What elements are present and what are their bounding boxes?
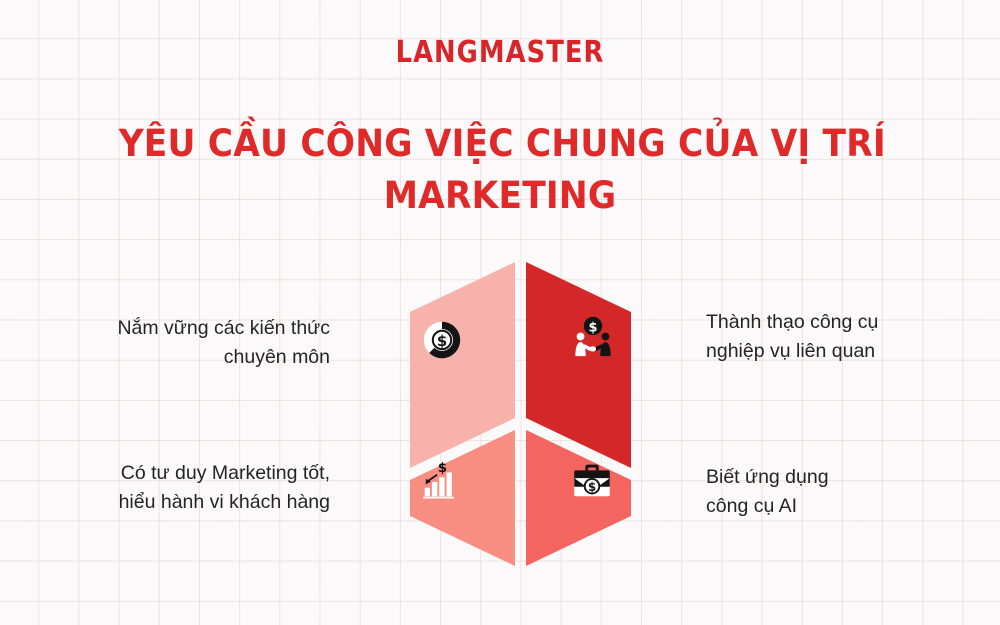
label-ai-line-2: công cụ AI (706, 492, 996, 521)
bar-chart-dollar-icon: $ (417, 458, 463, 504)
langmaster-logo: LANGMASTER (70, 38, 930, 68)
label-ai: Biết ứng dụng công cụ AI (706, 463, 996, 521)
label-knowledge-line-1: Nắm vững các kiến thức (40, 314, 330, 343)
svg-text:$: $ (437, 332, 447, 350)
pie-chart-dollar-icon: $ (419, 317, 465, 363)
label-mindset-line-2: hiểu hành vi khách hàng (40, 488, 330, 517)
page-title-line-1: YÊU CẦU CÔNG VIỆC CHUNG CỦA VỊ TRÍ (119, 118, 882, 170)
page-title-line-2: MARKETING (119, 170, 882, 222)
briefcase-dollar-icon: $ (569, 457, 615, 503)
svg-text:$: $ (438, 461, 447, 476)
label-knowledge-line-2: chuyên môn (40, 343, 330, 372)
label-tools: Thành thạo công cụ nghiệp vụ liên quan (706, 308, 996, 366)
infographic-poster: LANGMASTER YÊU CẦU CÔNG VIỆC CHUNG CỦA V… (0, 0, 1000, 625)
page-title: YÊU CẦU CÔNG VIỆC CHUNG CỦA VỊ TRÍ MARKE… (119, 118, 882, 222)
hexagon-segments-svg (365, 258, 675, 570)
label-tools-line-2: nghiệp vụ liên quan (706, 337, 996, 366)
svg-text:$: $ (588, 480, 596, 494)
label-mindset: Có tư duy Marketing tốt, hiểu hành vi kh… (40, 459, 330, 517)
hexagon-diagram: $ $ $ (365, 258, 675, 570)
label-tools-line-1: Thành thạo công cụ (706, 308, 996, 337)
label-knowledge: Nắm vững các kiến thức chuyên môn (40, 314, 330, 372)
hex-segment-knowledge[interactable] (410, 262, 515, 468)
hex-segment-tools[interactable] (526, 262, 631, 468)
label-mindset-line-1: Có tư duy Marketing tốt, (40, 459, 330, 488)
label-ai-line-1: Biết ứng dụng (706, 463, 996, 492)
handshake-dollar-icon: $ (570, 314, 616, 360)
svg-text:$: $ (589, 320, 598, 335)
